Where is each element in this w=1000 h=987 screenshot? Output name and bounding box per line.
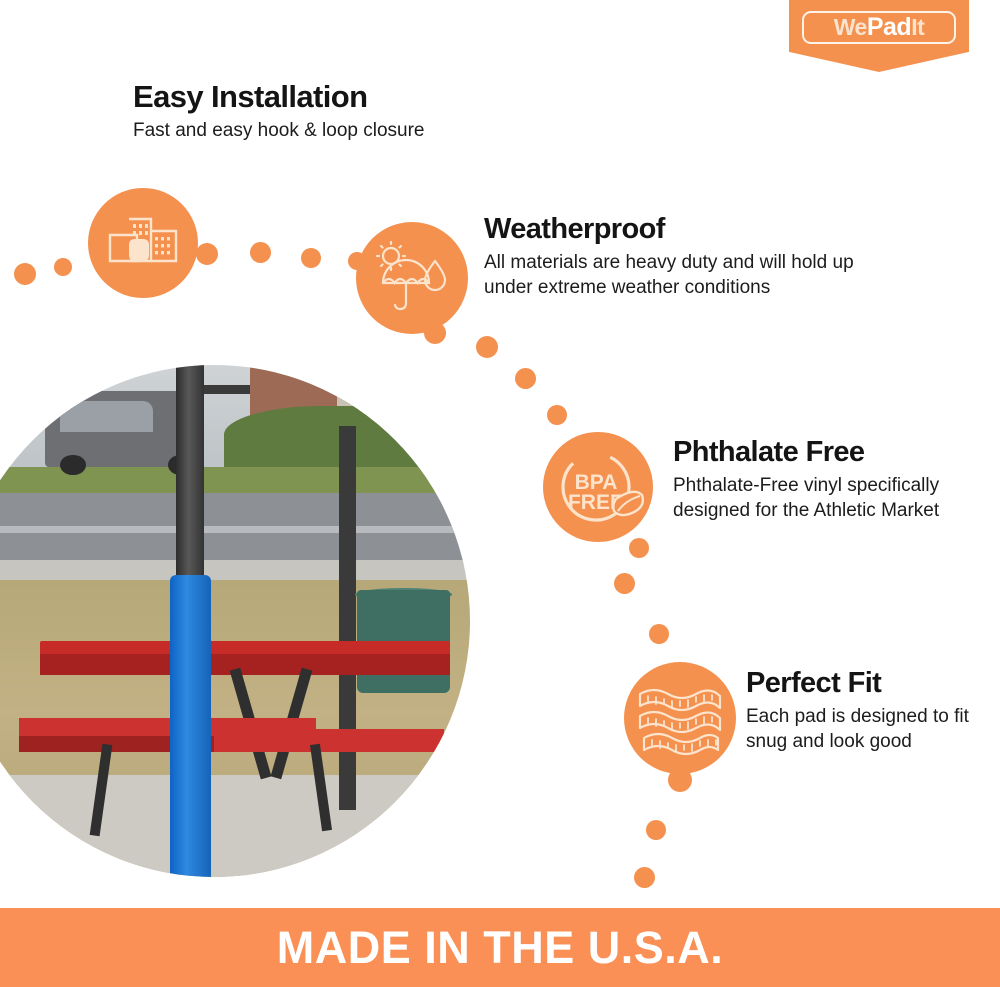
feature-easy-installation: Easy Installation Fast and easy hook & l… — [133, 80, 563, 143]
icon-blob-fit — [668, 768, 692, 792]
trail-dot — [547, 405, 567, 425]
logo-text-we: We — [834, 14, 867, 40]
trail-dot — [476, 336, 498, 358]
feature-weatherproof: Weatherproof All materials are heavy dut… — [484, 214, 904, 300]
feature-title: Easy Installation — [133, 80, 563, 114]
icon-blob-bpa — [629, 538, 649, 558]
feature-perfect-fit: Perfect Fit Each pad is designed to fit … — [746, 668, 986, 754]
product-feature-infographic: WePadIt Easy Installation Fast and easy … — [0, 0, 1000, 987]
logo-outline-box: WePadIt — [802, 11, 956, 44]
trail-dot — [250, 242, 271, 263]
made-in-usa-banner: MADE IN THE U.S.A. — [0, 908, 1000, 987]
sun-umbrella-raindrop-icon — [356, 222, 468, 334]
brand-logo[interactable]: WePadIt — [789, 0, 969, 72]
feature-title: Perfect Fit — [746, 668, 986, 700]
building-hook-loop-icon — [88, 188, 198, 298]
feature-description: Fast and easy hook & loop closure — [133, 118, 563, 143]
trail-dot — [634, 867, 655, 888]
trail-dot — [14, 263, 36, 285]
feature-description: Each pad is designed to fit snug and loo… — [746, 704, 986, 755]
logo-text-it: It — [911, 14, 924, 40]
icon-blob-install — [196, 243, 218, 265]
feature-description: All materials are heavy duty and will ho… — [484, 250, 904, 301]
tape-measure-icon — [624, 662, 736, 774]
icon-blob-weather-left — [348, 252, 366, 270]
feature-description: Phthalate-Free vinyl specifically design… — [673, 473, 973, 524]
logo-text: WePadIt — [834, 15, 925, 40]
trail-dot — [301, 248, 321, 268]
trail-dot — [515, 368, 536, 389]
blue-pole-pad — [170, 575, 211, 877]
trail-dot — [646, 820, 666, 840]
logo-text-pad: Pad — [867, 13, 911, 41]
icon-blob-weather-bottom — [424, 322, 446, 344]
product-photo — [0, 365, 470, 877]
product-photo-scene — [0, 365, 470, 877]
trail-dot — [614, 573, 635, 594]
feature-phthalate-free: Phthalate Free Phthalate-Free vinyl spec… — [673, 437, 973, 523]
trail-dot — [649, 624, 669, 644]
feature-title: Weatherproof — [484, 214, 904, 246]
trail-dot — [54, 258, 72, 276]
feature-title: Phthalate Free — [673, 437, 973, 469]
banner-text: MADE IN THE U.S.A. — [277, 925, 724, 970]
bpa-free-leaf-icon: BPA FREE — [543, 432, 653, 542]
